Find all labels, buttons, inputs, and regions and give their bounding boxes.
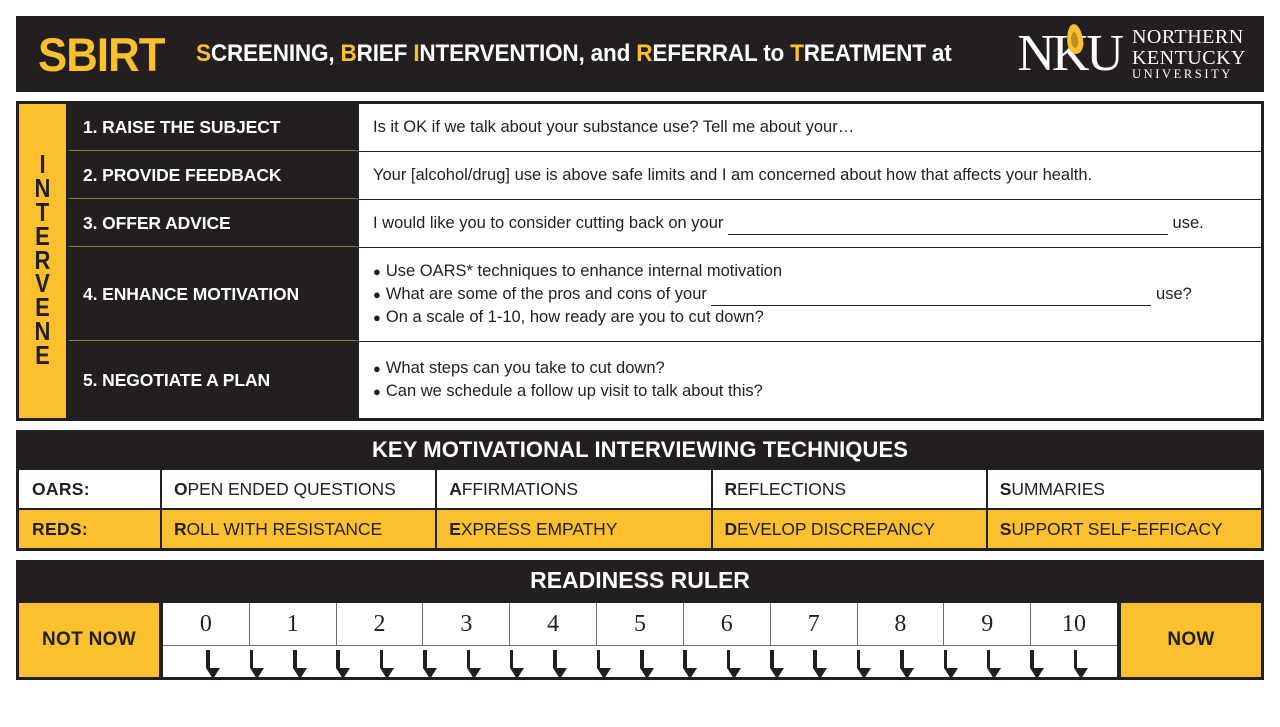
intervene-content-line: ●Use OARS* techniques to enhance interna… (373, 260, 1251, 283)
intervene-step-label: 3. OFFER ADVICE (69, 200, 359, 247)
arrow-head (336, 668, 350, 679)
mi-techniques-section: KEY MOTIVATIONAL INTERVIEWING TECHNIQUES… (16, 430, 1264, 551)
arrow-head (467, 668, 481, 679)
ruler-body: NOT NOW 012345678910 NOW (19, 600, 1261, 680)
intervene-step-content: Your [alcohol/drug] use is above safe li… (359, 152, 1261, 199)
intervene-content-line: I would like you to consider cutting bac… (373, 212, 1251, 235)
ruler-number-cell[interactable]: 4 (510, 603, 597, 645)
arrow-shaft (813, 650, 817, 668)
ruler-number-cell[interactable]: 2 (337, 603, 424, 645)
ruler-number-cell[interactable]: 6 (684, 603, 771, 645)
arrow-head (423, 668, 437, 679)
intervene-line-text: Use OARS* techniques to enhance internal… (386, 260, 782, 283)
arrow-shaft (1074, 650, 1078, 668)
intervene-step-label: 4. ENHANCE MOTIVATION (69, 248, 359, 341)
arrow-head (597, 668, 611, 679)
arrow-head (1030, 668, 1044, 679)
mi-technique-cell: DEVELOP DISCREPANCY (713, 510, 988, 548)
nku-word-kentucky: KENTUCKY (1132, 48, 1246, 68)
fill-in-blank[interactable] (728, 219, 1168, 235)
mi-technique-initial: E (449, 519, 461, 540)
arrow-head (900, 668, 914, 679)
intervene-sidebar-label: INTERVENE (19, 104, 69, 418)
arrow-head (683, 668, 697, 679)
arrow-shaft (944, 650, 948, 668)
mi-technique-cell: OPEN ENDED QUESTIONS (162, 470, 437, 508)
intervene-step-content: ●What steps can you take to cut down?●Ca… (359, 342, 1261, 418)
sbirt-wordmark: SBIRT (38, 31, 164, 78)
nku-word-northern: NORTHERN (1132, 27, 1246, 47)
nku-logo: NKU NORTHERN KENTUCKY UNIVERSITY (1017, 27, 1256, 81)
line-text-after: use? (1151, 285, 1191, 303)
arrow-shaft (640, 650, 644, 668)
arrow-shaft (293, 650, 297, 668)
tagline-part-7: EFERRAL to (652, 40, 790, 67)
tagline-part-8: T (790, 40, 804, 67)
tagline-part-5: NTERVENTION, and (419, 40, 636, 67)
mi-technique-text: XPRESS EMPATHY (461, 519, 617, 540)
arrow-shaft (857, 650, 861, 668)
intervene-step-content: Is it OK if we talk about your substance… (359, 104, 1261, 151)
line-text-before: Your [alcohol/drug] use is above safe li… (373, 166, 1092, 184)
mi-technique-text: PEN ENDED QUESTIONS (188, 479, 396, 500)
arrow-shaft (987, 650, 991, 668)
ruler-number-cell[interactable]: 10 (1031, 603, 1117, 645)
intervene-line-text: I would like you to consider cutting bac… (373, 214, 1204, 232)
line-text-before: Can we schedule a follow up visit to tal… (386, 382, 763, 400)
arrow-shaft (553, 650, 557, 668)
mi-technique-cell: SUMMARIES (988, 470, 1261, 508)
tagline-part-6: R (636, 40, 652, 67)
intervene-content-line: Is it OK if we talk about your substance… (373, 116, 1251, 139)
arrow-head (987, 668, 1001, 679)
mi-technique-initial: A (449, 479, 462, 500)
ruler-number-row: 012345678910 (163, 603, 1117, 646)
ruler-cap-now: NOW (1121, 603, 1261, 677)
line-text-before: What are some of the pros and cons of yo… (386, 285, 712, 303)
mi-technique-initial: R (174, 519, 187, 540)
mi-technique-initial: R (725, 479, 738, 500)
ruler-scale: 012345678910 (163, 603, 1117, 677)
arrow-head (727, 668, 741, 679)
arrow-shaft (467, 650, 471, 668)
ruler-number-cell[interactable]: 1 (250, 603, 337, 645)
arrow-head (250, 668, 264, 679)
mi-technique-cell: ROLL WITH RESISTANCE (162, 510, 437, 548)
arrow-head (206, 668, 220, 679)
fill-in-blank[interactable] (711, 290, 1151, 306)
intervene-step-content: ●Use OARS* techniques to enhance interna… (359, 248, 1261, 341)
bullet-icon: ● (373, 311, 381, 324)
intervene-row: 2. PROVIDE FEEDBACKYour [alcohol/drug] u… (69, 152, 1261, 200)
bullet-icon: ● (373, 385, 381, 398)
arrow-head (640, 668, 654, 679)
mi-row-label: REDS: (19, 510, 162, 548)
line-text-before: On a scale of 1-10, how ready are you to… (386, 308, 764, 326)
line-text-before: Is it OK if we talk about your substance… (373, 118, 854, 136)
ruler-number-cell[interactable]: 0 (163, 603, 250, 645)
ruler-number-cell[interactable]: 9 (944, 603, 1031, 645)
ruler-cap-not-now: NOT NOW (19, 603, 159, 677)
intervene-rows: 1. RAISE THE SUBJECTIs it OK if we talk … (69, 104, 1261, 418)
intervene-content-line: ●On a scale of 1-10, how ready are you t… (373, 306, 1251, 329)
arrow-shaft (597, 650, 601, 668)
readiness-ruler-section: READINESS RULER NOT NOW 012345678910 NOW (16, 560, 1264, 680)
mi-section-title: KEY MOTIVATIONAL INTERVIEWING TECHNIQUES (19, 433, 1261, 468)
intervene-step-label: 2. PROVIDE FEEDBACK (69, 152, 359, 199)
ruler-number-cell[interactable]: 3 (423, 603, 510, 645)
ruler-number-cell[interactable]: 5 (597, 603, 684, 645)
intervene-row: 4. ENHANCE MOTIVATION●Use OARS* techniqu… (69, 248, 1261, 342)
intervene-content-line: ●Can we schedule a follow up visit to ta… (373, 380, 1251, 403)
ruler-arrow-row (163, 646, 1117, 677)
mi-technique-text: UPPORT SELF-EFFICACY (1011, 519, 1222, 540)
mi-row-label: OARS: (19, 470, 162, 508)
arrow-shaft (206, 650, 210, 668)
tagline-part-1: CREENING, (211, 40, 341, 67)
tagline-part-9: REATMENT at (804, 40, 952, 67)
tagline-part-2: B (341, 40, 357, 67)
arrow-head (813, 668, 827, 679)
tagline-part-0: S (196, 40, 211, 67)
mi-row-oars: OARS:OPEN ENDED QUESTIONSAFFIRMATIONSREF… (19, 468, 1261, 508)
bullet-icon: ● (373, 288, 381, 301)
line-text-before: Use OARS* techniques to enhance internal… (386, 262, 782, 280)
arrow-head (857, 668, 871, 679)
ruler-number-cell[interactable]: 8 (858, 603, 945, 645)
arrow-shaft (510, 650, 514, 668)
intervene-row: 5. NEGOTIATE A PLAN●What steps can you t… (69, 342, 1261, 418)
line-text-after: use. (1168, 214, 1204, 232)
arrow-head (770, 668, 784, 679)
intervene-step-label: 5. NEGOTIATE A PLAN (69, 342, 359, 418)
intervene-content-line: Your [alcohol/drug] use is above safe li… (373, 164, 1251, 187)
arrow-shaft (770, 650, 774, 668)
arrow-shaft (250, 650, 254, 668)
mi-technique-initial: S (1000, 479, 1012, 500)
bullet-icon: ● (373, 265, 381, 278)
intervene-line-text: On a scale of 1-10, how ready are you to… (386, 306, 764, 329)
intervene-line-text: Can we schedule a follow up visit to tal… (386, 380, 763, 403)
intervene-content-line: ●What steps can you take to cut down? (373, 357, 1251, 380)
mi-technique-text: EVELOP DISCREPANCY (737, 519, 935, 540)
header-tagline: SCREENING, BRIEF INTERVENTION, and REFER… (196, 40, 952, 68)
arrow-shaft (380, 650, 384, 668)
mi-technique-text: EFLECTIONS (737, 479, 846, 500)
intervene-row: 3. OFFER ADVICEI would like you to consi… (69, 200, 1261, 248)
mi-technique-initial: O (174, 479, 188, 500)
mi-technique-cell: SUPPORT SELF-EFFICACY (988, 510, 1261, 548)
nku-monogram: NKU (1017, 28, 1121, 80)
mi-technique-cell: AFFIRMATIONS (437, 470, 712, 508)
mi-technique-text: FFIRMATIONS (462, 479, 578, 500)
intervene-line-text: Is it OK if we talk about your substance… (373, 118, 854, 136)
page-header: SBIRT SCREENING, BRIEF INTERVENTION, and… (16, 16, 1264, 92)
bullet-icon: ● (373, 362, 381, 375)
intervene-line-text: What are some of the pros and cons of yo… (386, 283, 1192, 306)
arrow-head (510, 668, 524, 679)
arrow-shaft (683, 650, 687, 668)
arrow-shaft (1030, 650, 1034, 668)
line-text-before: I would like you to consider cutting bac… (373, 214, 728, 232)
mi-row-reds: REDS:ROLL WITH RESISTANCEEXPRESS EMPATHY… (19, 508, 1261, 548)
nku-wordmark: NORTHERN KENTUCKY UNIVERSITY (1132, 27, 1246, 81)
intervene-step-label: 1. RAISE THE SUBJECT (69, 104, 359, 151)
arrow-shaft (900, 650, 904, 668)
arrow-head (944, 668, 958, 679)
mi-technique-initial: D (725, 519, 738, 540)
mi-rows: OARS:OPEN ENDED QUESTIONSAFFIRMATIONSREF… (19, 468, 1261, 548)
intervene-content-line: ●What are some of the pros and cons of y… (373, 283, 1251, 306)
arrow-head (380, 668, 394, 679)
arrow-head (1074, 668, 1088, 679)
arrow-head (553, 668, 567, 679)
ruler-section-title: READINESS RULER (19, 563, 1261, 600)
arrow-shaft (423, 650, 427, 668)
ruler-number-cell[interactable]: 7 (771, 603, 858, 645)
intervene-table: INTERVENE 1. RAISE THE SUBJECTIs it OK i… (16, 101, 1264, 421)
mi-technique-cell: REFLECTIONS (713, 470, 988, 508)
tagline-part-3: RIEF (357, 40, 414, 67)
arrow-shaft (336, 650, 340, 668)
intervene-row: 1. RAISE THE SUBJECTIs it OK if we talk … (69, 104, 1261, 152)
arrow-head (293, 668, 307, 679)
sbirt-reference-card: SBIRT SCREENING, BRIEF INTERVENTION, and… (0, 0, 1280, 727)
arrow-shaft (727, 650, 731, 668)
intervene-line-text: Your [alcohol/drug] use is above safe li… (373, 166, 1092, 184)
line-text-before: What steps can you take to cut down? (386, 359, 665, 377)
mi-technique-cell: EXPRESS EMPATHY (437, 510, 712, 548)
intervene-line-text: What steps can you take to cut down? (386, 357, 665, 380)
intervene-letter-8: E (35, 343, 50, 370)
mi-technique-initial: S (1000, 519, 1012, 540)
mi-technique-text: UMMARIES (1011, 479, 1105, 500)
mi-technique-text: OLL WITH RESISTANCE (187, 519, 383, 540)
intervene-step-content: I would like you to consider cutting bac… (359, 200, 1261, 247)
nku-word-university: UNIVERSITY (1132, 68, 1246, 81)
